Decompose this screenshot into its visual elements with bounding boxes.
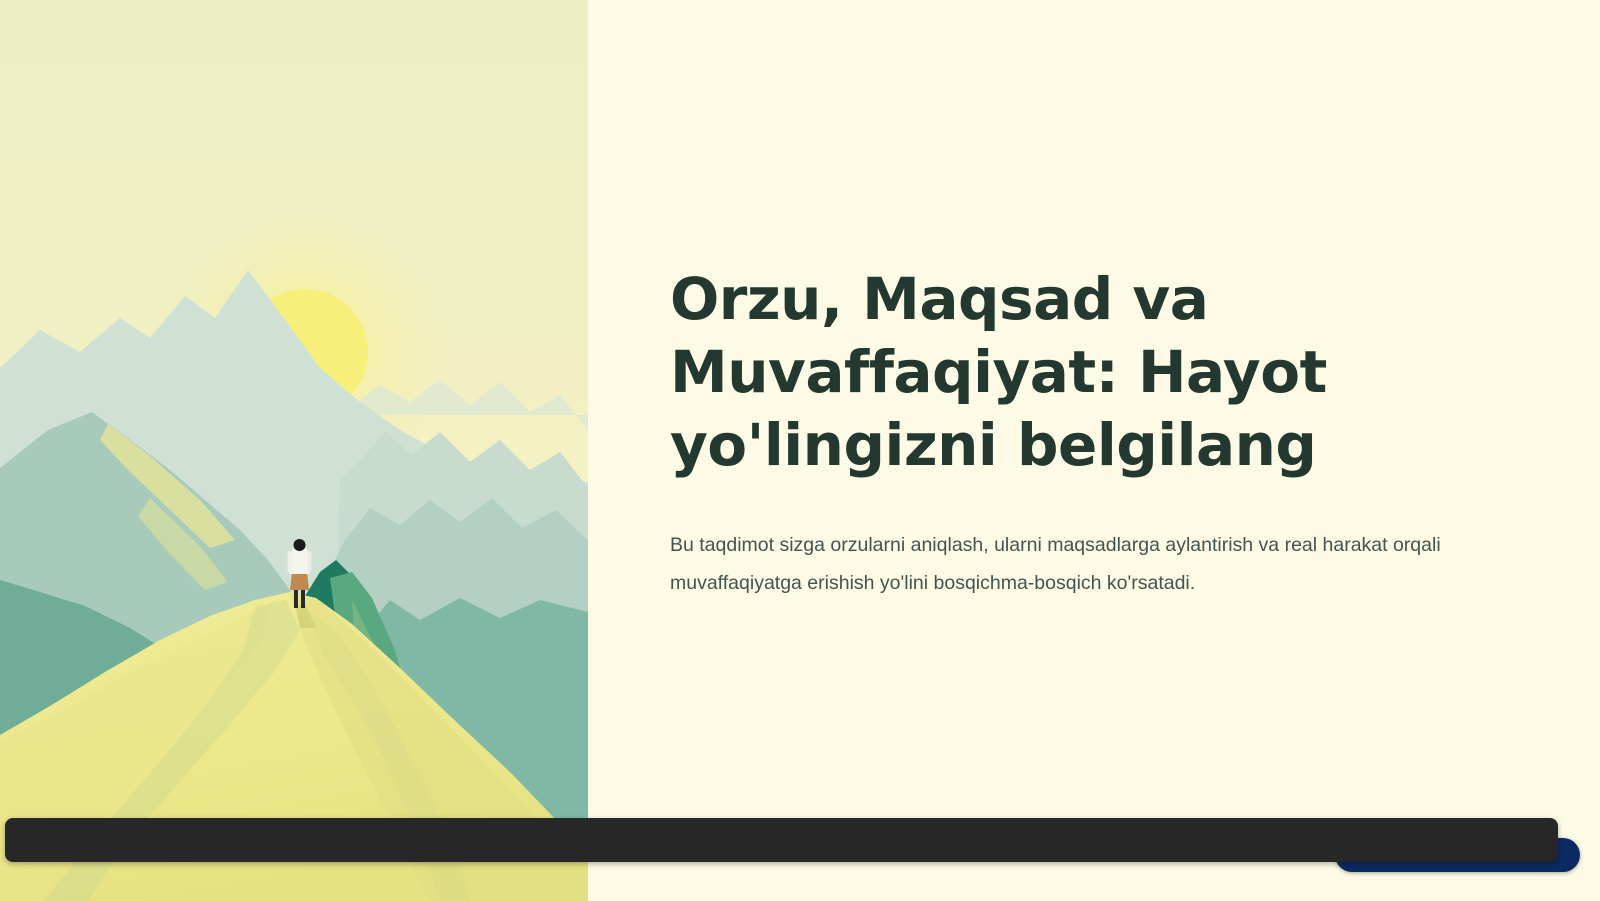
- slide-subtitle: Bu taqdimot sizga orzularni aniqlash, ul…: [670, 526, 1470, 602]
- hiker-arm-left: [288, 551, 292, 572]
- page-title: Orzu, Maqsad va Muvaffaqiyat: Hayot yo'l…: [670, 263, 1360, 482]
- hiker-leg-right: [301, 588, 305, 608]
- bottom-toolbar[interactable]: [5, 818, 1558, 862]
- presentation-slide: Orzu, Maqsad va Muvaffaqiyat: Hayot yo'l…: [0, 0, 1600, 901]
- hiker-skirt: [290, 572, 309, 590]
- illustration-panel: [0, 0, 588, 901]
- hiker-leg-left: [294, 588, 298, 608]
- hiker-head: [294, 539, 306, 551]
- hiker-shirt: [289, 549, 310, 574]
- hiker-arm-right: [308, 551, 312, 572]
- text-panel: Orzu, Maqsad va Muvaffaqiyat: Hayot yo'l…: [588, 0, 1600, 901]
- title-block: Orzu, Maqsad va Muvaffaqiyat: Hayot yo'l…: [670, 263, 1480, 602]
- mountain-sunrise-illustration: [0, 0, 588, 901]
